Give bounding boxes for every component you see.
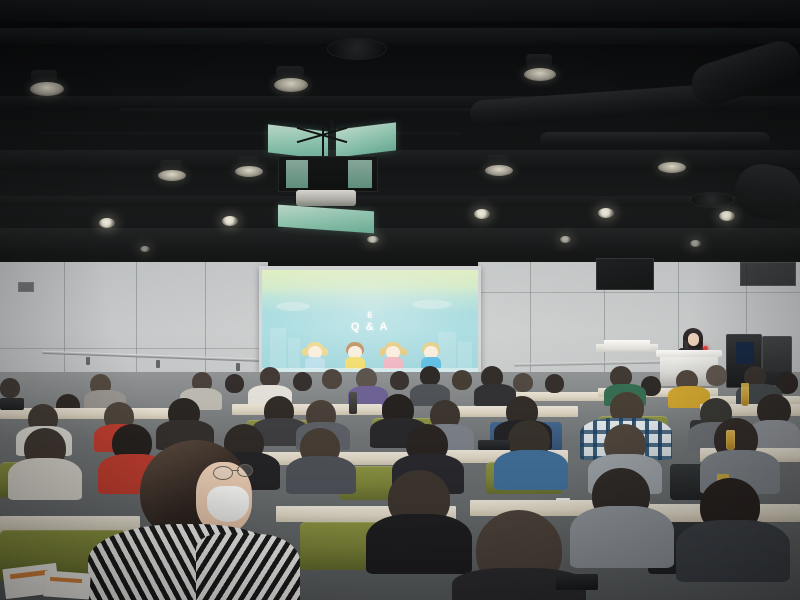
- slide-character-girl-pigtails: [384, 342, 404, 370]
- glasses-lens: [213, 466, 233, 480]
- ceiling-downlight: [367, 236, 379, 243]
- ceiling-downlight: [222, 216, 238, 226]
- desk-row-mid: [0, 408, 176, 419]
- audience-head: [293, 372, 312, 391]
- face-mask: [207, 486, 249, 522]
- audience-head: [0, 378, 20, 398]
- audience-head: [390, 371, 409, 390]
- audience-head: [452, 370, 472, 390]
- audience-head: [225, 374, 244, 393]
- drink-bottle: [726, 430, 735, 450]
- ceiling-vent: [327, 38, 387, 60]
- audience-head: [420, 366, 440, 386]
- audience-shoulders: [366, 514, 472, 574]
- ceiling-downlight: [474, 209, 490, 219]
- spotlight-lens: [485, 165, 513, 176]
- device: [0, 398, 24, 410]
- equipment-panel: [736, 342, 754, 364]
- wall-monitor: [18, 282, 34, 292]
- slide-character-boy-brown: [346, 342, 366, 370]
- slide-character-girl-blonde: [306, 342, 326, 370]
- ceiling-duct: [540, 132, 770, 148]
- wall-mounted-display: [740, 262, 796, 286]
- slide-heading: Q & A: [262, 321, 478, 333]
- audience-shoulders: [8, 458, 82, 500]
- ceiling-downlight: [560, 236, 571, 243]
- wall-rail: [514, 360, 664, 366]
- ceiling-vent: [690, 192, 734, 208]
- spotlight-lens: [274, 78, 308, 92]
- spotlight-lens: [524, 68, 556, 81]
- ceiling-downlight: [140, 246, 150, 252]
- foreground-person-jacket-shoulder: [196, 534, 300, 600]
- projection-screen: 6 Q & A: [259, 266, 481, 378]
- lift-light-glow: [348, 160, 372, 188]
- ceiling-projector: [296, 190, 356, 206]
- ceiling-downlight: [99, 218, 115, 228]
- lecture-hall-photo: 6 Q & A: [0, 0, 800, 600]
- audience-head: [706, 365, 727, 386]
- audience-head: [260, 367, 280, 387]
- device: [556, 574, 598, 590]
- handout-paper: [43, 570, 91, 599]
- device: [478, 440, 510, 450]
- drink-bottle: [741, 386, 749, 406]
- ceiling-downlight: [690, 240, 701, 247]
- audience-head: [513, 373, 533, 392]
- thermos-flask: [349, 392, 357, 414]
- side-table-box: [604, 340, 650, 350]
- podium-top: [656, 350, 722, 357]
- presenter-face: [688, 333, 699, 346]
- slide-section-number: 6: [262, 310, 478, 320]
- audience-head: [322, 369, 342, 389]
- audience-shoulders: [286, 456, 356, 494]
- spotlight-lens: [158, 170, 186, 181]
- ceiling-downlight: [719, 211, 735, 221]
- slide-content: 6 Q & A: [262, 270, 478, 374]
- spotlight-lens: [235, 166, 263, 177]
- slide-top-band: [262, 270, 478, 294]
- ceiling-duct: [469, 83, 730, 127]
- spotlight-lens: [30, 82, 64, 96]
- ceiling-downlight: [598, 208, 614, 218]
- glasses-lens: [237, 464, 253, 477]
- audience-shoulders: [494, 450, 568, 490]
- ceiling: [0, 0, 800, 268]
- audience-head: [545, 374, 564, 393]
- audience-shoulders: [570, 506, 674, 568]
- lift-light-glow: [286, 160, 308, 188]
- audience-shoulders: [676, 520, 790, 582]
- wall-mounted-display: [596, 258, 654, 290]
- spotlight-lens: [658, 162, 686, 173]
